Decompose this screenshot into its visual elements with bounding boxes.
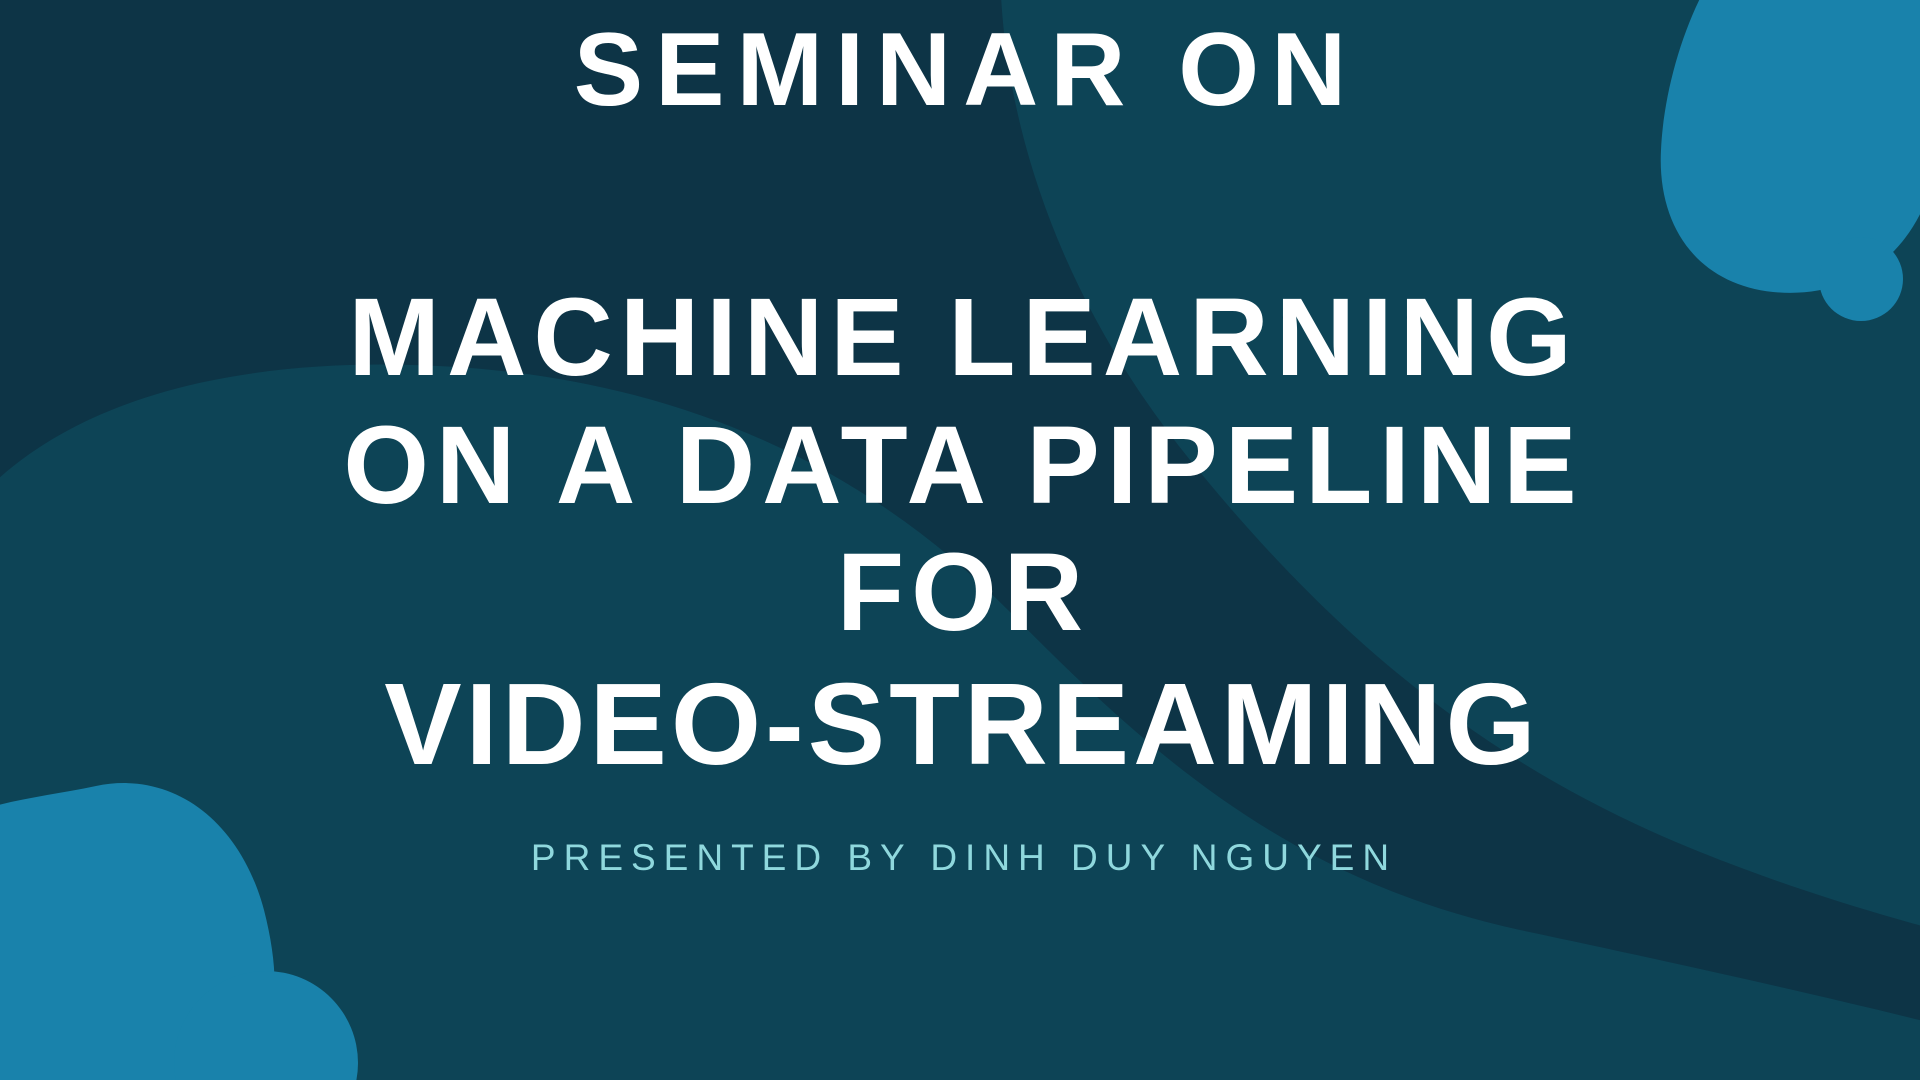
top-right-circle-shape: [1819, 237, 1903, 321]
background-decorations: [0, 0, 1920, 1080]
title-slide: SEMINAR ON MACHINE LEARNING ON A DATA PI…: [0, 0, 1920, 1080]
